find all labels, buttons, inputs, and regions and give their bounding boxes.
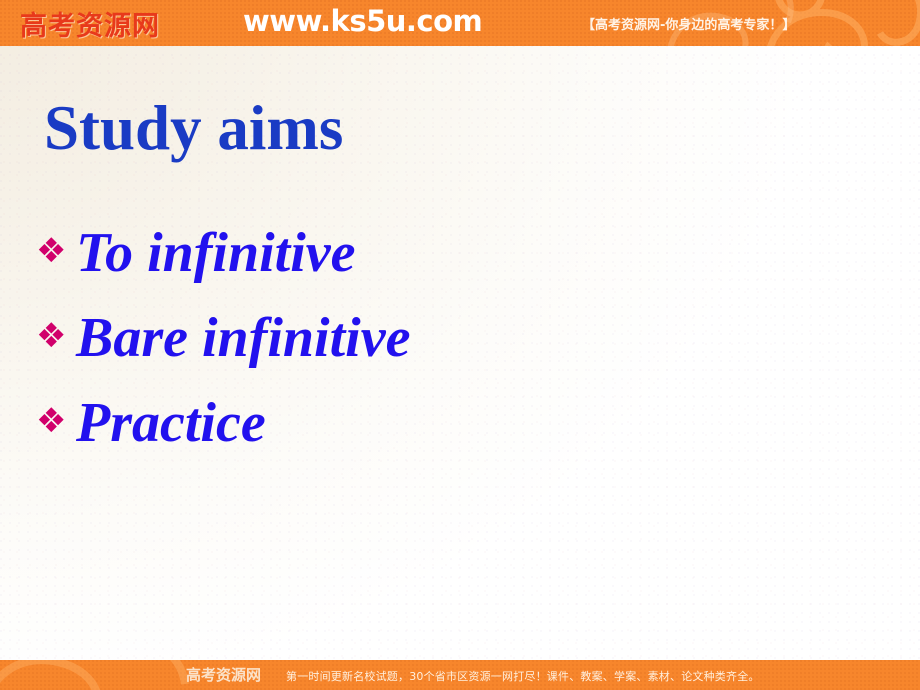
presentation-slide: 高考资源网 www.ks5u.com 【高考资源网-你身边的高考专家！】 Stu… (0, 0, 920, 690)
list-item: ❖ Bare infinitive (36, 295, 410, 380)
list-item-label: To infinitive (76, 221, 356, 285)
list-item: ❖ Practice (36, 380, 410, 465)
footer-banner: 高考资源网 第一时间更新名校试题，30个省市区资源一网打尽！课件、教案、学案、素… (0, 660, 920, 690)
diamond-bullet-icon: ❖ (36, 404, 76, 438)
site-tagline-text: 【高考资源网-你身边的高考专家！】 (582, 14, 795, 33)
diamond-bullet-icon: ❖ (36, 319, 76, 353)
page-title: Study aims (44, 92, 343, 165)
footer-logo-text: 高考资源网 (186, 664, 261, 685)
diamond-bullet-icon: ❖ (36, 234, 76, 268)
footer-description-text: 第一时间更新名校试题，30个省市区资源一网打尽！课件、教案、学案、素材、论文种类… (286, 668, 760, 684)
site-url-text: www.ks5u.com (243, 4, 482, 38)
list-item-label: Practice (76, 391, 266, 455)
list-item-label: Bare infinitive (76, 306, 410, 370)
site-logo-text: 高考资源网 (20, 4, 160, 43)
header-banner: 高考资源网 www.ks5u.com 【高考资源网-你身边的高考专家！】 (0, 0, 920, 46)
study-aims-list: ❖ To infinitive ❖ Bare infinitive ❖ Prac… (36, 210, 410, 465)
footer-swirl-decoration (0, 660, 210, 690)
list-item: ❖ To infinitive (36, 210, 410, 295)
